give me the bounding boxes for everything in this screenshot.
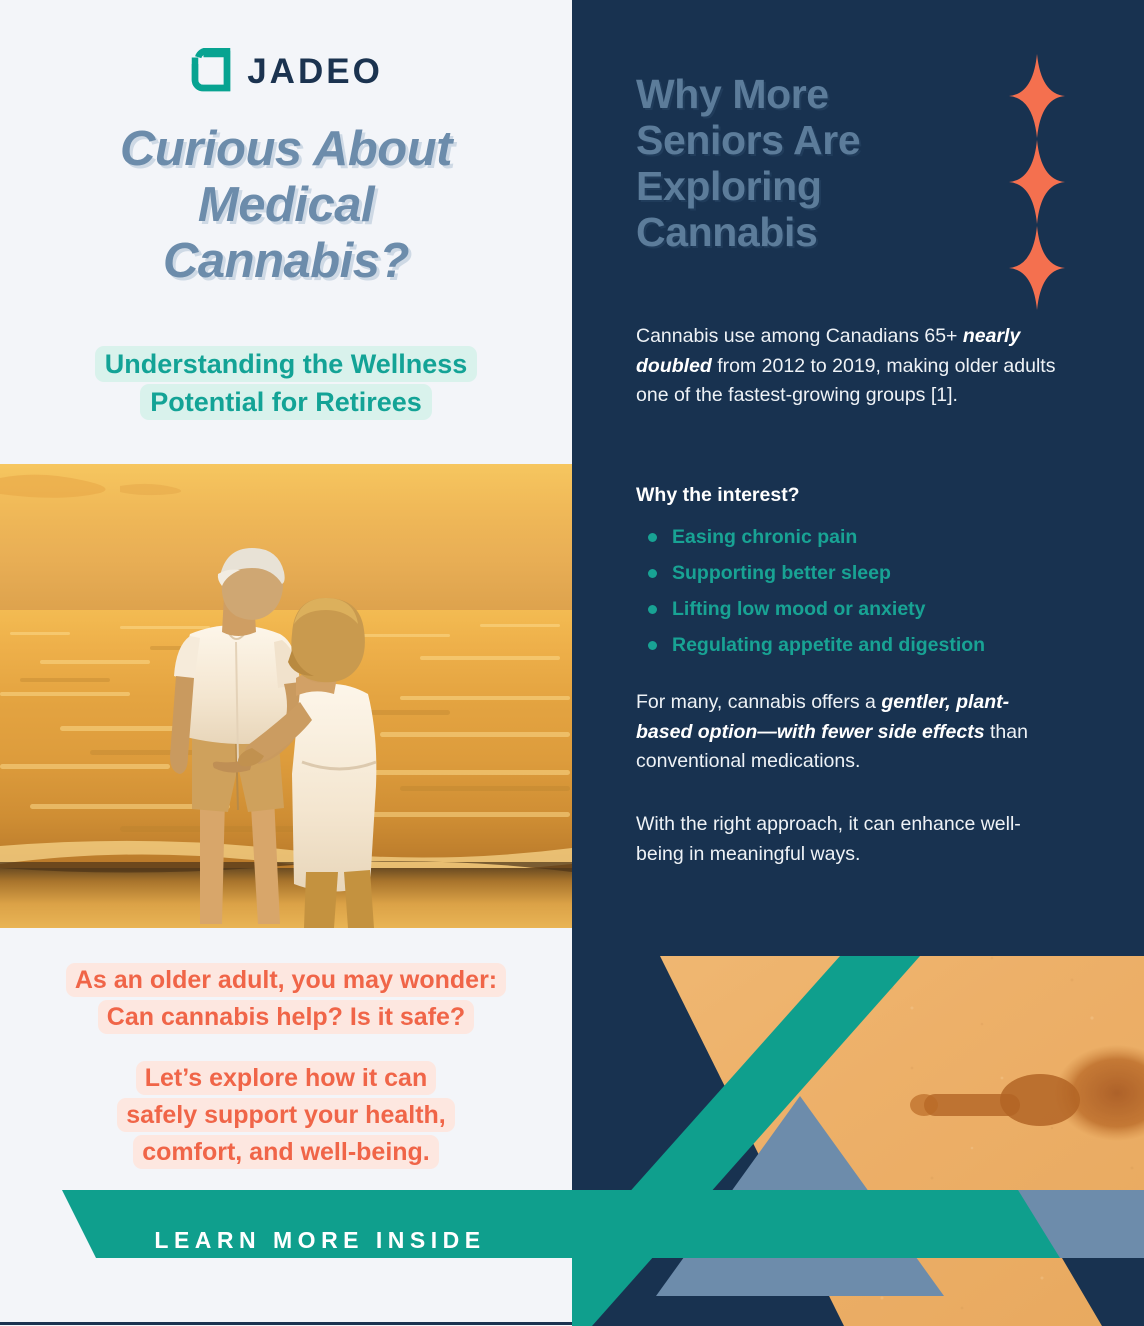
right-title-line-3: Exploring [636, 164, 1006, 210]
right-title-line-1: Why More [636, 72, 1006, 118]
invite-line-1: Let’s explore how it can [136, 1061, 436, 1095]
headline-line-2: Medical [30, 178, 542, 234]
list-item: Regulating appetite and digestion [636, 632, 1066, 659]
photo-illustration [0, 464, 572, 928]
gentler-option-paragraph: For many, cannabis offers a gentler, pla… [636, 688, 1056, 777]
list-item: Lifting low mood or anxiety [636, 596, 1066, 623]
headline-line-3: Cannabis? [30, 234, 542, 290]
question-line-1: As an older adult, you may wonder: [66, 963, 506, 997]
brand-logo[interactable]: JADEO [0, 48, 572, 94]
four-point-star-icon [1009, 54, 1065, 138]
spacer [36, 1036, 536, 1060]
list-item: Easing chronic pain [636, 524, 1066, 551]
question-line-2: Can cannabis help? Is it safe? [98, 1000, 474, 1034]
subtitle-line-1: Understanding the Wellness [95, 346, 478, 382]
para2-part1: For many, cannabis offers a [636, 691, 881, 713]
poster-page: JADEO Curious About Medical Cannabis? Un… [0, 0, 1144, 1326]
brand-name: JADEO [247, 54, 383, 89]
four-point-star-icon [1009, 226, 1065, 310]
why-interest-label: Why the interest? [636, 484, 1056, 507]
jadeo-leaf-mark-icon [189, 48, 233, 94]
reader-question-block: As an older adult, you may wonder: Can c… [36, 962, 536, 1171]
closing-paragraph: With the right approach, it can enhance … [636, 810, 1056, 869]
intro-part1: Cannabis use among Canadians 65+ [636, 325, 963, 347]
page-title: Curious About Medical Cannabis? [30, 122, 542, 290]
page-subtitle: Understanding the Wellness Potential for… [36, 345, 536, 422]
cta-label[interactable]: LEARN MORE INSIDE [60, 1190, 580, 1290]
intro-paragraph: Cannabis use among Canadians 65+ nearly … [636, 322, 1056, 411]
benefits-list: Easing chronic pain Supporting better sl… [636, 524, 1066, 668]
list-item: Supporting better sleep [636, 560, 1066, 587]
bottom-divider [0, 1322, 572, 1325]
invite-line-3: comfort, and well-being. [133, 1135, 439, 1169]
four-point-star-icon [1009, 140, 1065, 224]
sparkle-decoration [1006, 52, 1068, 312]
headline-line-1: Curious About [30, 122, 542, 178]
right-title-line-4: Cannabis [636, 210, 1006, 256]
beach-couple-photo [0, 464, 572, 928]
right-panel-title: Why More Seniors Are Exploring Cannabis [636, 72, 1006, 256]
subtitle-line-2: Potential for Retirees [140, 384, 432, 420]
invite-line-2: safely support your health, [117, 1098, 455, 1132]
right-title-line-2: Seniors Are [636, 118, 1006, 164]
